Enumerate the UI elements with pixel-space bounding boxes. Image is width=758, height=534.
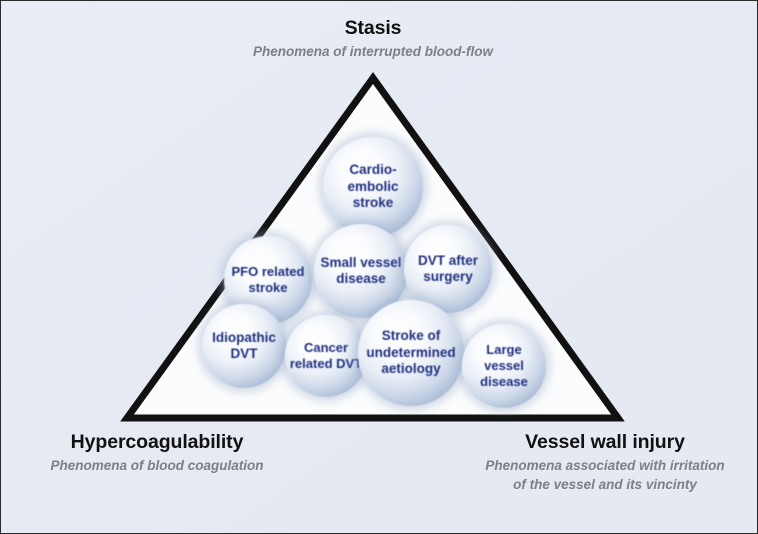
vessel-wall-injury-subtitle: Phenomena associated with irritation of … xyxy=(455,457,755,493)
bubble-label-line: DVT xyxy=(212,346,276,362)
vessel-wall-injury-title: Vessel wall injury xyxy=(455,431,755,453)
hypercoagulability-title: Hypercoagulability xyxy=(9,431,305,453)
bubble-item: Large vesseldisease xyxy=(462,324,546,408)
bubble-label-line: Idiopathic xyxy=(212,330,276,346)
bubble-label-line: Cancer xyxy=(290,340,362,356)
bubble-label-line: Cardio-embolic xyxy=(327,162,419,195)
bubble-label: DVT aftersurgery xyxy=(414,253,482,286)
corner-label-vessel-wall-injury: Vessel wall injury Phenomena associated … xyxy=(455,431,755,494)
bubble-label-line: Large vessel xyxy=(466,342,542,374)
bubble-label: Large vesseldisease xyxy=(462,342,546,390)
bubble-label: Cardio-embolicstroke xyxy=(323,162,423,211)
bubble-item: Stroke ofundeterminedaetiology xyxy=(358,300,464,406)
bubble-label: PFO relatedstroke xyxy=(228,264,309,296)
corner-label-hypercoagulability: Hypercoagulability Phenomena of blood co… xyxy=(9,431,305,476)
bubble-label-line: related DVT xyxy=(290,356,362,372)
bubble-label: Small vesseldisease xyxy=(316,255,405,288)
vessel-wall-injury-subtitle-line2: of the vessel and its vincinty xyxy=(455,476,755,494)
vessel-wall-injury-subtitle-line1: Phenomena associated with irritation xyxy=(455,457,755,475)
bubble-label-line: DVT after xyxy=(418,253,478,269)
diagram-canvas: Cardio-embolicstrokePFO relatedstrokeSma… xyxy=(0,0,758,534)
bubble-label-line: Small vessel xyxy=(320,255,401,271)
hypercoagulability-subtitle: Phenomena of blood coagulation xyxy=(9,457,305,475)
bubble-label-line: stroke xyxy=(327,195,419,211)
bubble-label-line: Stroke of xyxy=(366,328,455,344)
stasis-subtitle: Phenomena of interrupted blood-flow xyxy=(220,43,526,61)
bubble-label: Stroke ofundeterminedaetiology xyxy=(362,328,459,377)
bubble-label-line: disease xyxy=(320,271,401,287)
bubble-label-line: aetiology xyxy=(366,361,455,377)
bubble-item: Cancerrelated DVT xyxy=(285,315,367,397)
bubble-item: Cardio-embolicstroke xyxy=(323,137,423,237)
bubble-label: Cancerrelated DVT xyxy=(286,340,366,372)
bubble-label-line: PFO related xyxy=(232,264,305,280)
bubble-item: IdiopathicDVT xyxy=(202,304,286,388)
bubble-label-line: stroke xyxy=(232,280,305,296)
bubble-label-line: surgery xyxy=(418,269,478,285)
corner-label-stasis: Stasis Phenomena of interrupted blood-fl… xyxy=(220,17,526,62)
stasis-title: Stasis xyxy=(220,17,526,39)
bubble-label: IdiopathicDVT xyxy=(208,330,280,363)
bubble-label-line: disease xyxy=(466,374,542,390)
bubble-label-line: undetermined xyxy=(366,345,455,361)
